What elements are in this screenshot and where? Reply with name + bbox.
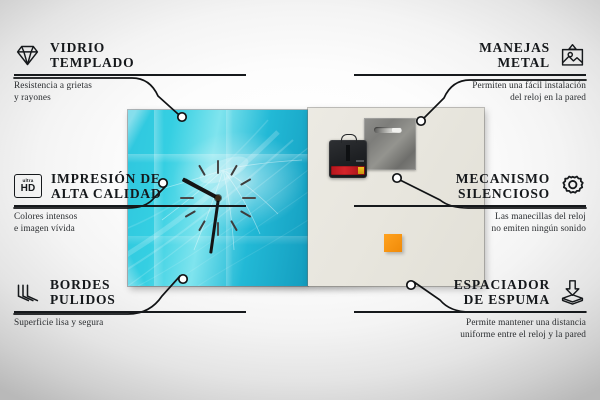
- feature-rule: [14, 74, 246, 76]
- feature-description: Las manecillas del reloj no emiten ningú…: [354, 211, 586, 236]
- hanger-loop: [341, 134, 357, 143]
- feature-title-line2: PULIDOS: [50, 292, 116, 307]
- feature-rule: [14, 205, 246, 207]
- mechanism-label: [356, 160, 364, 162]
- feature-titles: ESPACIADOR DE ESPUMA: [454, 277, 550, 307]
- feature-titles: BORDES PULIDOS: [50, 277, 116, 307]
- feature-rule: [14, 311, 246, 313]
- desc-line-2: y rayones: [14, 92, 246, 104]
- feature-description: Resistencia a grietas y rayones: [14, 80, 246, 105]
- diamond-icon: [14, 42, 41, 69]
- feature-bordes-pulidos: BORDES PULIDOS Superficie lisa y segura: [14, 277, 246, 329]
- infographic-canvas: VIDRIO TEMPLADO Resistencia a grietas y …: [0, 0, 600, 400]
- hanger-slot: [374, 127, 402, 133]
- ultra-hd-icon: ultra HD: [14, 174, 42, 198]
- feature-titles: MECANISMO SILENCIOSO: [456, 171, 550, 201]
- feature-title-line1: MECANISMO: [456, 171, 550, 186]
- desc-line-1: Permite mantener una distancia: [354, 317, 586, 329]
- desc-line-2: no emiten ningún sonido: [354, 223, 586, 235]
- ultra-hd-large-text: HD: [21, 184, 36, 194]
- desc-line-1: Las manecillas del reloj: [354, 211, 586, 223]
- glass-reflection: [128, 236, 308, 245]
- desc-line-1: Resistencia a grietas: [14, 80, 246, 92]
- feature-rule: [354, 311, 586, 313]
- feature-header: BORDES PULIDOS: [14, 277, 246, 307]
- desc-line-1: Colores intensos: [14, 211, 246, 223]
- feature-header: MANEJAS METAL: [354, 40, 586, 70]
- feature-mecanismo-silencioso: MECANISMO SILENCIOSO Las manecillas del …: [354, 171, 586, 236]
- feature-title-line2: TEMPLADO: [50, 55, 134, 70]
- feature-title-line2: METAL: [479, 55, 550, 70]
- feature-impresion-alta-calidad: ultra HD IMPRESIÓN DE ALTA CALIDAD Color…: [14, 171, 246, 236]
- feature-manejas-metal: MANEJAS METAL Permiten una fácil instala…: [354, 40, 586, 105]
- feature-description: Permite mantener una distancia uniforme …: [354, 317, 586, 342]
- feature-header: ultra HD IMPRESIÓN DE ALTA CALIDAD: [14, 171, 246, 201]
- feature-vidrio-templado: VIDRIO TEMPLADO Resistencia a grietas y …: [14, 40, 246, 105]
- feature-title-line2: DE ESPUMA: [454, 292, 550, 307]
- feature-title-line1: ESPACIADOR: [454, 277, 550, 292]
- picture-frame-hanger-icon: [559, 42, 586, 69]
- feature-rule: [354, 74, 586, 76]
- desc-line-1: Superficie lisa y segura: [14, 317, 246, 329]
- mechanism-shaft: [346, 145, 350, 161]
- feature-header: ESPACIADOR DE ESPUMA: [354, 277, 586, 307]
- desc-line-2: e imagen vívida: [14, 223, 246, 235]
- feature-description: Superficie lisa y segura: [14, 317, 246, 329]
- feature-titles: MANEJAS METAL: [479, 40, 550, 70]
- desc-line-1: Permiten una fácil instalación: [354, 80, 586, 92]
- feature-description: Permiten una fácil instalación del reloj…: [354, 80, 586, 105]
- feature-title-line1: IMPRESIÓN DE: [51, 171, 162, 186]
- feature-rule: [354, 205, 586, 207]
- desc-line-2: uniforme entre el reloj y la pared: [354, 329, 586, 341]
- metal-hanger-plate: [364, 118, 416, 170]
- feature-title-line1: MANEJAS: [479, 40, 550, 55]
- foam-spacer-arrow-icon: [559, 279, 586, 306]
- feature-espaciador-espuma: ESPACIADOR DE ESPUMA Permite mantener un…: [354, 277, 586, 342]
- feature-titles: IMPRESIÓN DE ALTA CALIDAD: [51, 171, 162, 201]
- feature-title-line1: VIDRIO: [50, 40, 134, 55]
- foam-spacer: [384, 234, 402, 252]
- feature-titles: VIDRIO TEMPLADO: [50, 40, 134, 70]
- feature-title-line2: ALTA CALIDAD: [51, 186, 162, 201]
- desc-line-2: del reloj en la pared: [354, 92, 586, 104]
- polished-edges-icon: [14, 279, 41, 306]
- feature-header: MECANISMO SILENCIOSO: [354, 171, 586, 201]
- feature-title-line1: BORDES: [50, 277, 116, 292]
- feature-header: VIDRIO TEMPLADO: [14, 40, 246, 70]
- feature-description: Colores intensos e imagen vívida: [14, 211, 246, 236]
- feature-title-line2: SILENCIOSO: [456, 186, 550, 201]
- gear-icon: [559, 173, 586, 200]
